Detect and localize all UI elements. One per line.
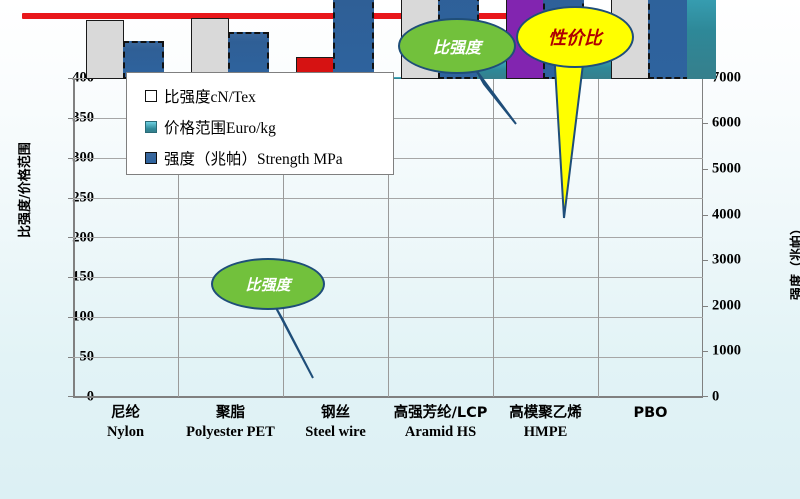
- y2-tick-label-4000: 4000: [712, 207, 741, 224]
- bar-strength-pbo[interactable]: [648, 0, 689, 79]
- y2-tick-6000: [703, 123, 708, 124]
- y2-tick-5000: [703, 169, 708, 170]
- category-label-steel-wire-cn: 钢丝: [283, 404, 388, 423]
- y2-tick-label-7000: 7000: [712, 70, 741, 87]
- y2-tick-label-2000: 2000: [712, 298, 741, 315]
- category-label-steel-wire-en: Steel wire: [283, 423, 388, 442]
- slide-background: 400 350 300 250 200 150 100 50 0 7000 60…: [0, 0, 800, 499]
- bar-specific-strength-nylon[interactable]: [86, 20, 124, 79]
- y2-tick-0: [703, 396, 708, 397]
- y2-tick-3000: [703, 260, 708, 261]
- legend-item-specific-strength[interactable]: 比强度cN/Tex: [145, 80, 393, 111]
- y2-axis-title: 强度（兆帕）: [786, 222, 800, 300]
- category-label-aramid-hs-cn: 高强芳纶/LCP: [388, 404, 493, 423]
- y2-tick-label-0: 0: [712, 389, 719, 406]
- legend-swatch-strength-icon: [145, 152, 157, 164]
- category-label-aramid-hs-en: Aramid HS: [388, 423, 493, 442]
- category-label-polyester-cn: 聚脂: [178, 404, 283, 423]
- bar-specific-strength-polyester[interactable]: [191, 18, 229, 79]
- y2-tick-4000: [703, 215, 708, 216]
- callout-cost-performance[interactable]: 性价比: [516, 6, 641, 224]
- callout-specific-strength-steel[interactable]: 比强度: [205, 258, 335, 398]
- category-label-hmpe: 高模聚乙烯 HMPE: [493, 404, 598, 441]
- category-label-aramid-hs: 高强芳纶/LCP Aramid HS: [388, 404, 493, 441]
- y2-tick-label-6000: 6000: [712, 115, 741, 132]
- category-label-nylon-en: Nylon: [73, 423, 178, 442]
- callout-text-cost-performance: 性价比: [548, 24, 602, 50]
- callout-text-hmpe: 比强度: [433, 34, 481, 58]
- bar-strength-steel-wire[interactable]: [333, 0, 374, 79]
- category-label-nylon-cn: 尼纶: [73, 404, 178, 423]
- callout-text-steel: 比强度: [245, 274, 290, 295]
- legend-label-price-range: 价格范围Euro/kg: [164, 116, 276, 138]
- category-label-pbo-cn: PBO: [598, 404, 703, 423]
- y2-tick-label-3000: 3000: [712, 252, 741, 269]
- y2-tick-1000: [703, 351, 708, 352]
- legend-item-strength[interactable]: 强度（兆帕）Strength MPa: [145, 142, 393, 173]
- callout-bubble-steel[interactable]: 比强度: [211, 258, 325, 310]
- callout-bubble-hmpe[interactable]: 比强度: [398, 18, 516, 74]
- callout-bubble-cost-performance[interactable]: 性价比: [516, 6, 634, 68]
- category-label-hmpe-en: HMPE: [493, 423, 598, 442]
- legend-label-specific-strength: 比强度cN/Tex: [164, 85, 256, 107]
- category-label-steel-wire: 钢丝 Steel wire: [283, 404, 388, 441]
- y2-tick-label-1000: 1000: [712, 343, 741, 360]
- legend-item-price-range[interactable]: 价格范围Euro/kg: [145, 111, 393, 142]
- category-label-nylon: 尼纶 Nylon: [73, 404, 178, 441]
- category-label-polyester: 聚脂 Polyester PET: [178, 404, 283, 441]
- y-axis-title: 比强度/价格范围: [14, 142, 33, 238]
- chart-legend: 比强度cN/Tex 价格范围Euro/kg 强度（兆帕）Strength MPa: [126, 72, 394, 175]
- legend-label-strength: 强度（兆帕）Strength MPa: [164, 147, 343, 169]
- legend-swatch-price-range-icon: [145, 121, 157, 133]
- category-label-polyester-en: Polyester PET: [178, 423, 283, 442]
- category-label-pbo: PBO: [598, 404, 703, 423]
- bar-price-range-pbo[interactable]: [687, 0, 716, 79]
- category-label-hmpe-cn: 高模聚乙烯: [493, 404, 598, 423]
- y2-tick-2000: [703, 306, 708, 307]
- legend-swatch-specific-strength-icon: [145, 90, 157, 102]
- y2-tick-label-5000: 5000: [712, 161, 741, 178]
